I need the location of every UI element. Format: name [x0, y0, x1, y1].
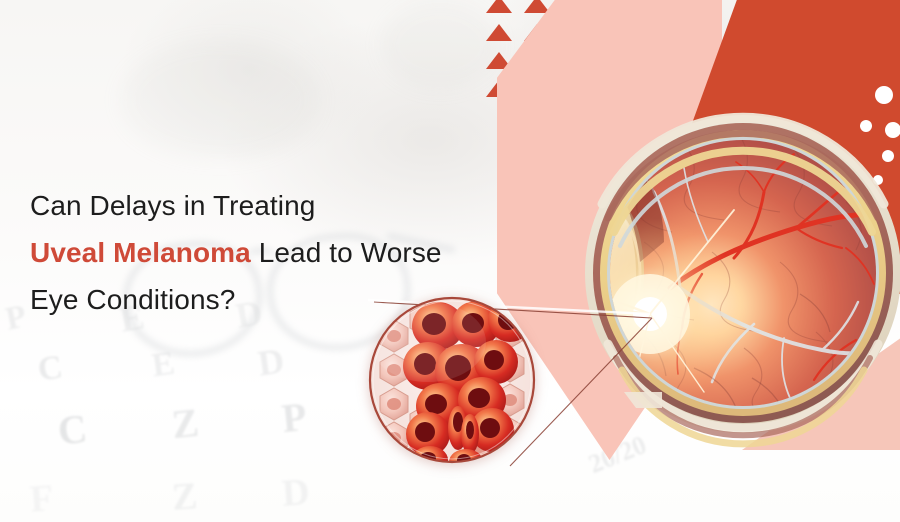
eye-chart-letter: Z: [170, 403, 201, 446]
headline-line-1: Can Delays in Treating: [30, 182, 550, 229]
blur-blob: [380, 0, 500, 90]
triangle-marker: [486, 24, 512, 41]
blur-blob: [120, 40, 320, 160]
headline-block: Can Delays in Treating Uveal Melanoma Le…: [30, 182, 550, 323]
headline-accent-term: Uveal Melanoma: [30, 237, 251, 268]
headline-line-2-rest: Lead to Worse: [251, 237, 442, 268]
eye-chart-letter: F: [29, 479, 55, 519]
headline-line-2: Uveal Melanoma Lead to Worse: [30, 229, 550, 276]
banner-root: PEDCEDCZPFZD20/20: [0, 0, 900, 522]
headline-line-3: Eye Conditions?: [30, 276, 550, 323]
eye-chart-letter: D: [281, 473, 311, 513]
eye-chart-letter: P: [280, 397, 308, 439]
eye-chart-letter: C: [56, 409, 89, 452]
eye-chart-letter: Z: [171, 477, 199, 517]
eye-chart-letter: C: [36, 350, 65, 387]
eye-cross-section-illustration: [584, 92, 900, 454]
triangle-marker: [486, 0, 512, 13]
triangle-marker: [524, 0, 550, 13]
